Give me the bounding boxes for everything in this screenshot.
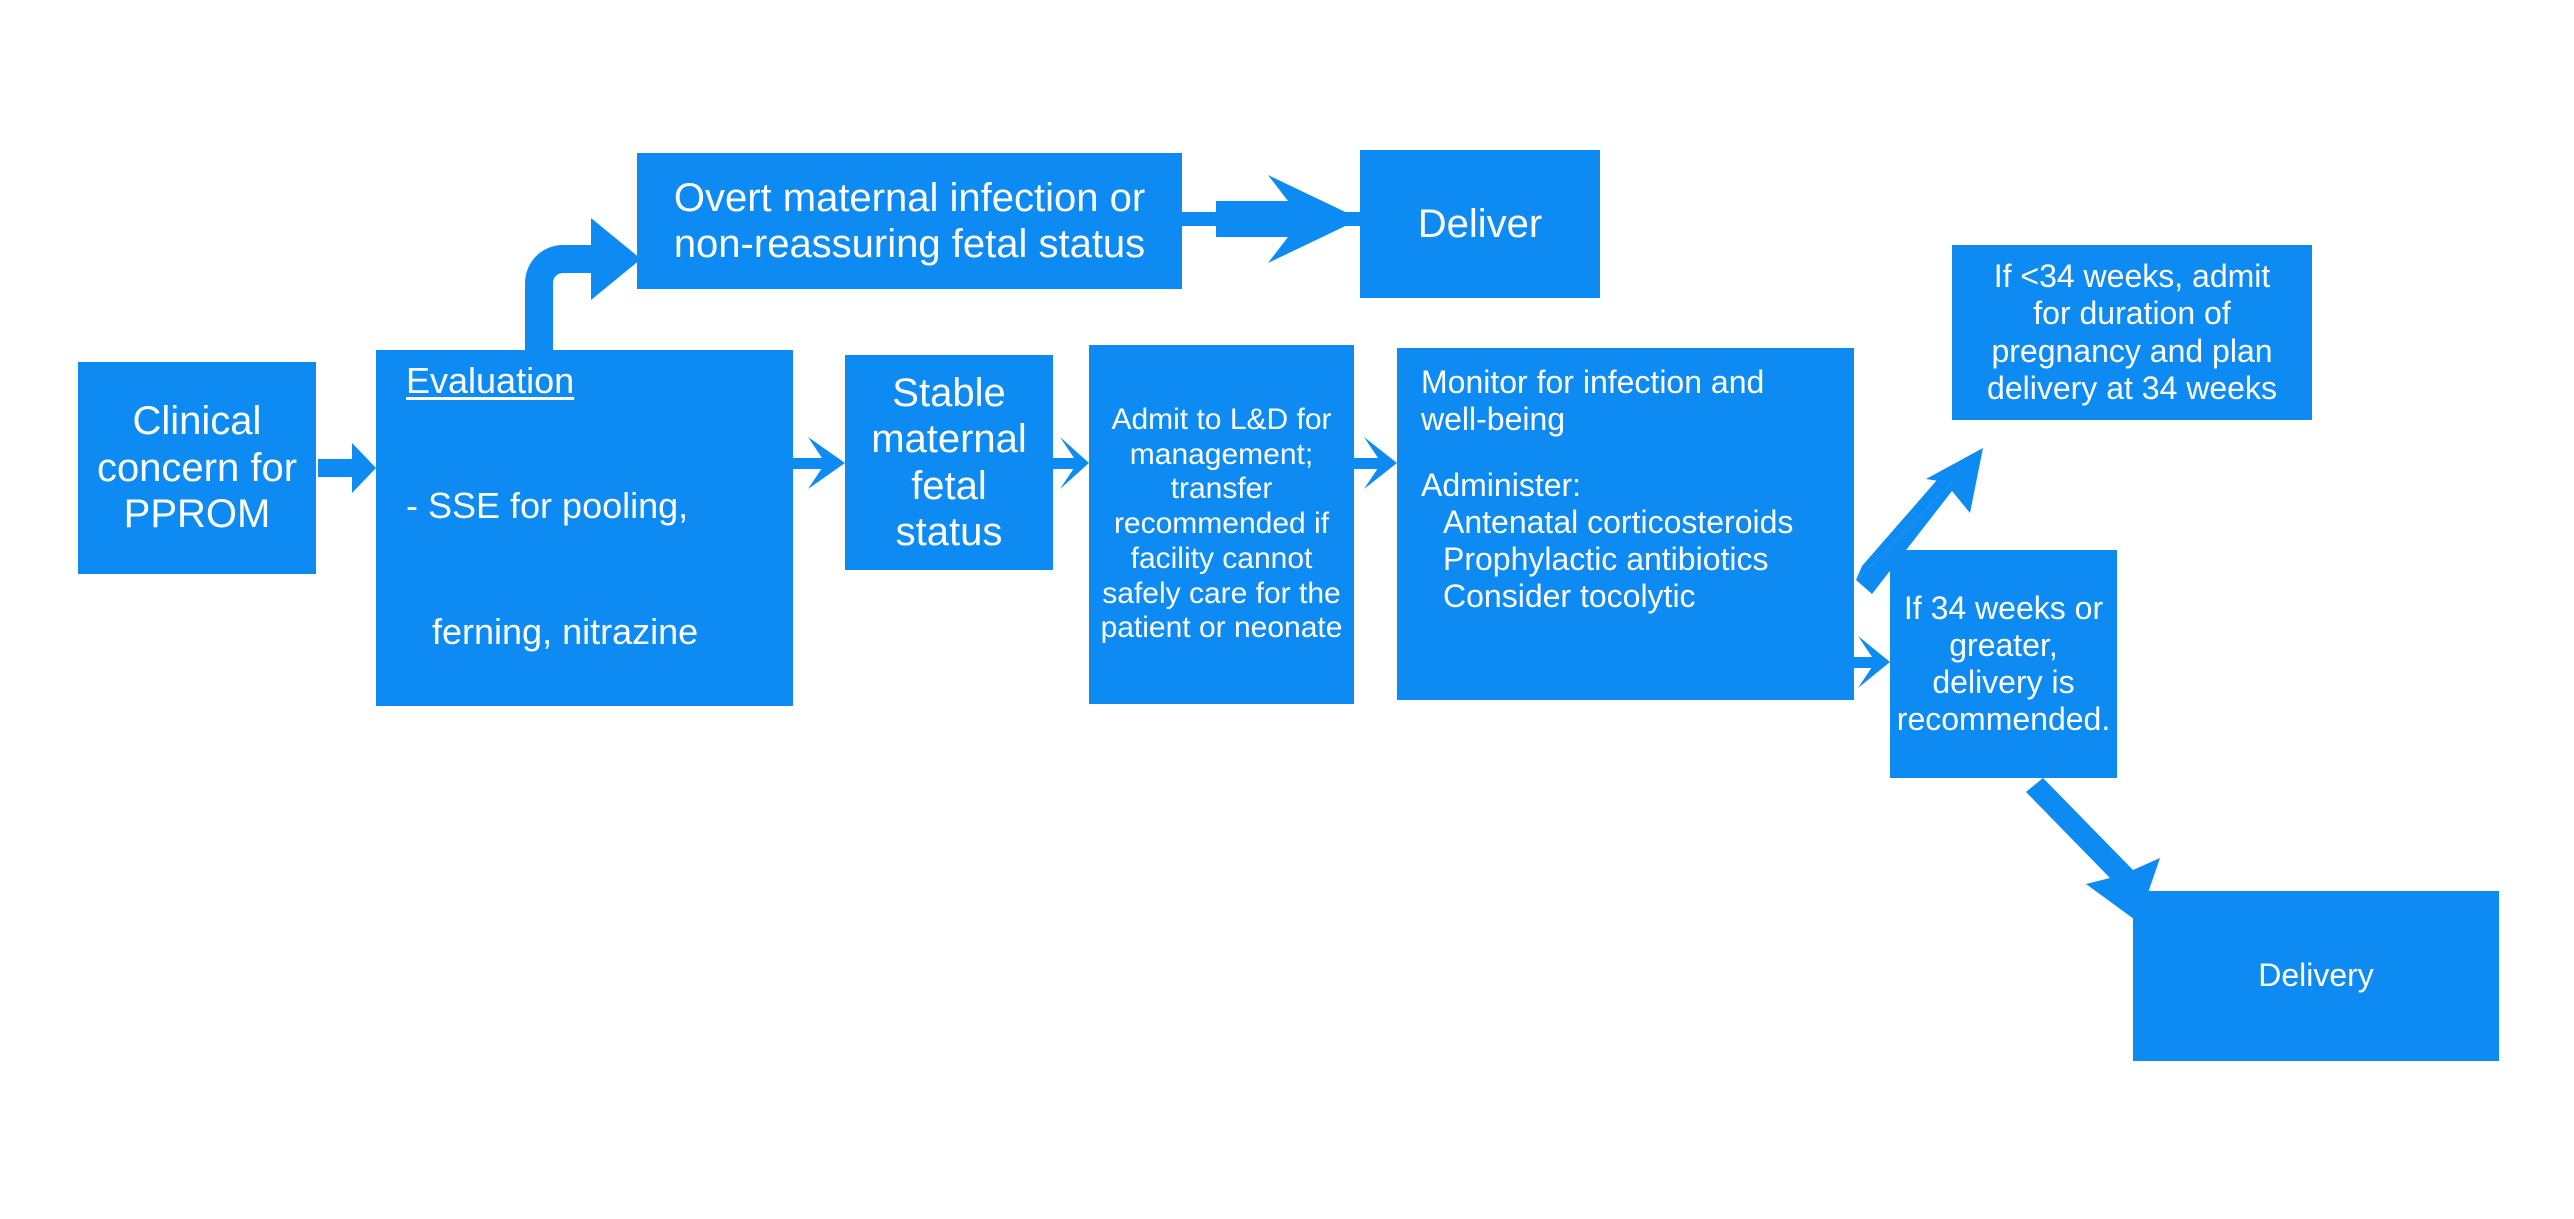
arrow-evaluation-to-stable (793, 437, 845, 489)
node-stable-maternal-fetal-status[interactable]: Stable maternal fetal status (845, 355, 1053, 570)
evaluation-item-2: - If equivocal, consider Amnisure (406, 736, 766, 1070)
evaluation-item-3: - If equivocal, consider US (406, 1070, 766, 1219)
flowchart-canvas: Clinical concern for PPROM Evaluation - … (0, 0, 2574, 1219)
node-evaluation[interactable]: Evaluation - SSE for pooling, ferning, n… (376, 350, 793, 706)
arrow-clinical-to-evaluation (318, 443, 376, 493)
node-clinical-concern-for-pprom[interactable]: Clinical concern for PPROM (78, 362, 316, 574)
evaluation-heading: Evaluation (406, 360, 574, 402)
node-admit-to-ld[interactable]: Admit to L&D for management; transfer re… (1089, 345, 1354, 704)
administer-item-2: Prophylactic antibiotics (1421, 541, 1768, 578)
arrow-monitor-to-over34 (1854, 636, 1890, 688)
arrow-stable-to-admit (1053, 437, 1089, 489)
monitor-line-2: well-being (1421, 401, 1565, 438)
administer-item-3: Consider tocolytic (1421, 578, 1696, 615)
node-overt-maternal-infection[interactable]: Overt maternal infection or non-reassuri… (637, 153, 1182, 289)
node-deliver[interactable]: Deliver (1360, 150, 1600, 298)
administer-heading: Administer: (1421, 467, 1581, 504)
node-if-34-weeks-or-greater[interactable]: If 34 weeks or greater, delivery is reco… (1890, 550, 2117, 778)
node-monitor-and-administer[interactable]: Monitor for infection and well-being Adm… (1397, 348, 1854, 700)
monitor-line-1: Monitor for infection and (1421, 364, 1764, 401)
node-delivery[interactable]: Delivery (2133, 891, 2499, 1061)
arrow-evaluation-to-overt (525, 218, 641, 350)
administer-item-1: Antenatal corticosteroids (1421, 504, 1793, 541)
node-if-under-34-weeks[interactable]: If <34 weeks, admit for duration of preg… (1952, 245, 2312, 420)
evaluation-item-1: - SSE for pooling, ferning, nitrazine (406, 402, 698, 736)
arrow-admit-to-monitor (1354, 437, 1397, 489)
arrow-overt-to-deliver (1182, 175, 1360, 263)
